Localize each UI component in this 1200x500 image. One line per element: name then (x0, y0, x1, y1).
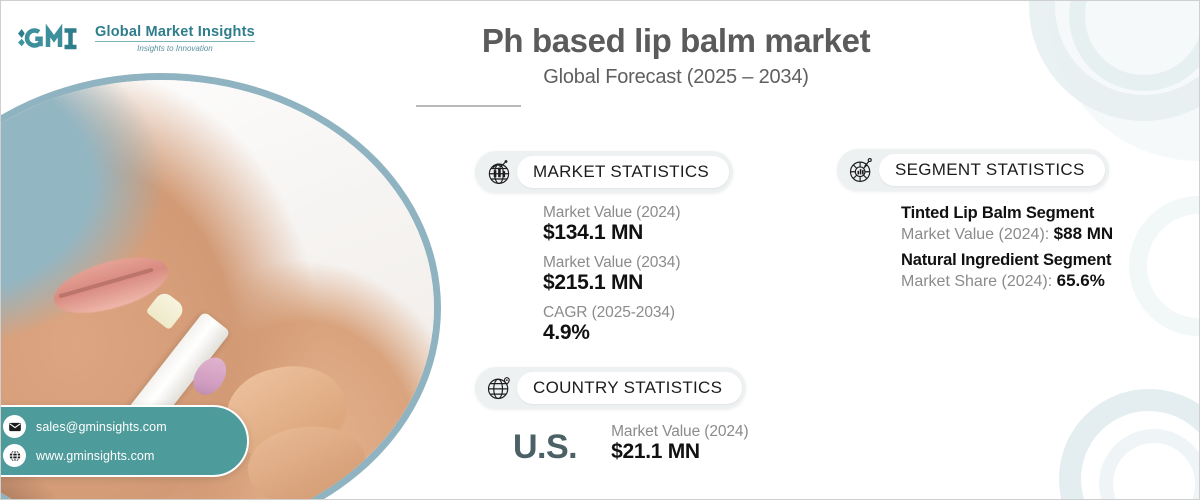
country-statistics-label: COUNTRY STATISTICS (517, 372, 742, 404)
contact-email-text: sales@gminsights.com (36, 420, 167, 434)
contact-email-row[interactable]: sales@gminsights.com (3, 415, 247, 438)
segment-statistics-body: Tinted Lip Balm Segment Market Value (20… (901, 204, 1113, 291)
decorative-ring-bottom-right-large (1059, 389, 1199, 499)
segment-stat-item: Natural Ingredient Segment Market Share … (901, 251, 1113, 291)
page-subtitle: Global Forecast (2025 – 2034) (416, 66, 936, 89)
brand-name: Global Market Insights (95, 24, 255, 42)
photo-lip-balm-tip (146, 290, 187, 331)
segment-title: Tinted Lip Balm Segment (901, 204, 1113, 223)
market-stat-value: $215.1 MN (543, 271, 733, 295)
page-title: Ph based lip balm market (416, 23, 936, 60)
market-stat-label: Market Value (2024) (543, 204, 733, 222)
globe-pin-icon (481, 370, 517, 406)
decorative-ring-middle-right (1129, 196, 1199, 336)
segment-statistics-label: SEGMENT STATISTICS (879, 154, 1105, 186)
globe-bar-chart-icon (481, 154, 517, 190)
market-stat-value: $134.1 MN (543, 221, 733, 245)
contact-website-row[interactable]: www.gminsights.com (3, 444, 247, 467)
market-stat-label: Market Value (2034) (543, 254, 733, 272)
country-name: U.S. (513, 430, 577, 464)
contact-website-text: www.gminsights.com (36, 449, 155, 463)
section-country-statistics: COUNTRY STATISTICS U.S. Market Value (20… (475, 367, 749, 464)
market-stat-item: Market Value (2024) $134.1 MN (543, 204, 733, 245)
country-stat-label: Market Value (2024) (611, 423, 748, 441)
country-statistics-pill[interactable]: COUNTRY STATISTICS (475, 367, 746, 409)
segment-metric-value: 65.6% (1057, 271, 1105, 290)
envelope-icon (3, 415, 26, 438)
country-stat-item: Market Value (2024) $21.1 MN (611, 423, 748, 464)
market-stat-item: CAGR (2025-2034) 4.9% (543, 304, 733, 345)
country-stat-value: $21.1 MN (611, 440, 748, 464)
segment-metric-label: Market Share (2024): (901, 273, 1052, 290)
market-stat-label: CAGR (2025-2034) (543, 304, 733, 322)
gmi-logo-icon (15, 23, 87, 53)
globe-icon (3, 444, 26, 467)
segment-stat-item: Tinted Lip Balm Segment Market Value (20… (901, 204, 1113, 244)
market-statistics-pill[interactable]: MARKET STATISTICS (475, 151, 733, 193)
pie-chart-arrow-icon (843, 152, 879, 188)
market-stat-item: Market Value (2034) $215.1 MN (543, 254, 733, 295)
decorative-ring-bottom-right-small (1099, 429, 1199, 499)
decorative-ring-top-right-large (1029, 1, 1199, 121)
market-stat-value: 4.9% (543, 321, 733, 345)
title-divider (416, 105, 521, 108)
country-statistics-body: U.S. Market Value (2024) $21.1 MN (513, 423, 749, 464)
title-block: Ph based lip balm market Global Forecast… (416, 23, 936, 107)
brand-tagline: Insights to Innovation (95, 44, 255, 53)
contact-panel: sales@gminsights.com www.gminsights.com (1, 405, 249, 477)
segment-metric-row: Market Share (2024): 65.6% (901, 271, 1113, 291)
segment-metric-value: $88 MN (1054, 224, 1114, 243)
decorative-circle-top-right-fill (1049, 1, 1199, 161)
segment-statistics-pill[interactable]: SEGMENT STATISTICS (837, 149, 1109, 191)
section-segment-statistics: SEGMENT STATISTICS Tinted Lip Balm Segme… (837, 149, 1113, 298)
market-statistics-label: MARKET STATISTICS (517, 156, 729, 188)
segment-metric-row: Market Value (2024): $88 MN (901, 224, 1113, 244)
infographic-canvas: sales@gminsights.com www.gminsights.com (1, 1, 1199, 499)
decorative-ring-top-right-small (1069, 1, 1199, 91)
section-market-statistics: MARKET STATISTICS Market Value (2024) $1… (475, 151, 733, 354)
market-statistics-body: Market Value (2024) $134.1 MN Market Val… (543, 204, 733, 345)
brand-logo[interactable]: Global Market Insights Insights to Innov… (15, 23, 255, 53)
segment-title: Natural Ingredient Segment (901, 251, 1113, 270)
segment-metric-label: Market Value (2024): (901, 226, 1049, 243)
